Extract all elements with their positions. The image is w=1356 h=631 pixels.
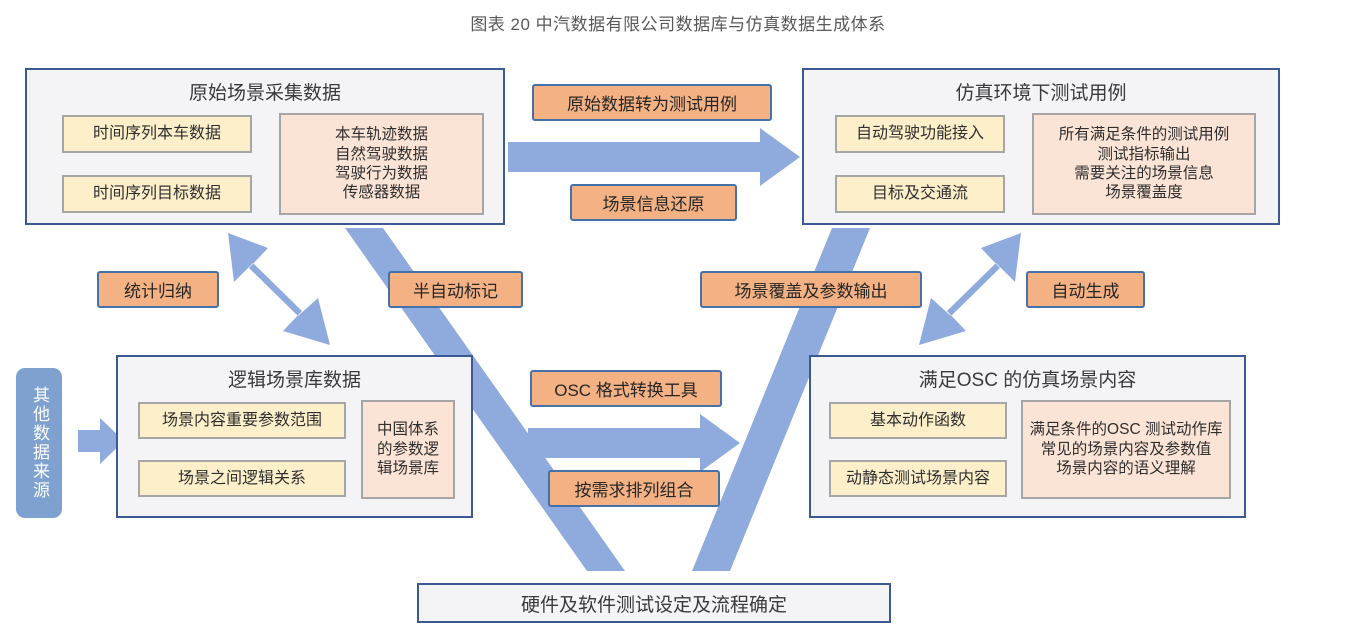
- arrow-raw-to-sim: [508, 128, 800, 186]
- group-sim-testcase[interactable]: 仿真环境下测试用例 自动驾驶功能接入 目标及交通流 所有满足条件的测试用例 测试…: [802, 68, 1280, 225]
- group-osc-scene-title: 满足OSC 的仿真场景内容: [811, 365, 1244, 392]
- label-coverage-param-output[interactable]: 场景覆盖及参数输出: [700, 271, 922, 308]
- label-scene-restore[interactable]: 场景信息还原: [570, 184, 737, 221]
- chip-logic-param-range[interactable]: 场景内容重要参数范围: [138, 402, 346, 439]
- group-raw-scene[interactable]: 原始场景采集数据 时间序列本车数据 时间序列目标数据 本车轨迹数据 自然驾驶数据…: [25, 68, 505, 225]
- arrow-sim-osc-double: [919, 233, 1021, 345]
- group-osc-scene[interactable]: 满足OSC 的仿真场景内容 基本动作函数 动静态测试场景内容 满足条件的OSC …: [809, 355, 1246, 518]
- chip-osc-dynamic-static-scene[interactable]: 动静态测试场景内容: [829, 460, 1007, 497]
- chip-sim-target-traffic-flow[interactable]: 目标及交通流: [835, 175, 1005, 213]
- label-statistics[interactable]: 统计归纳: [97, 271, 219, 308]
- chip-raw-target-timeseries[interactable]: 时间序列目标数据: [62, 175, 252, 213]
- label-osc-convert-tool[interactable]: OSC 格式转换工具: [530, 370, 722, 407]
- label-auto-generate[interactable]: 自动生成: [1026, 271, 1145, 308]
- label-permute-on-demand[interactable]: 按需求排列组合: [548, 470, 720, 507]
- chip-logic-china-param-lib[interactable]: 中国体系 的参数逻 辑场景库: [361, 400, 455, 499]
- label-semi-auto-mark[interactable]: 半自动标记: [388, 271, 523, 308]
- chip-raw-detail-list[interactable]: 本车轨迹数据 自然驾驶数据 驾驶行为数据 传感器数据: [279, 113, 484, 215]
- chip-sim-output-list[interactable]: 所有满足条件的测试用例 测试指标输出 需要关注的场景信息 场景覆盖度: [1032, 113, 1256, 215]
- bottom-process-label: 硬件及软件测试设定及流程确定: [521, 590, 787, 617]
- chip-osc-basic-action-fn[interactable]: 基本动作函数: [829, 402, 1007, 439]
- group-logic-library[interactable]: 逻辑场景库数据 场景内容重要参数范围 场景之间逻辑关系 中国体系 的参数逻 辑场…: [116, 355, 473, 518]
- chip-raw-ego-timeseries[interactable]: 时间序列本车数据: [62, 115, 252, 153]
- chip-logic-scene-relation[interactable]: 场景之间逻辑关系: [138, 460, 346, 497]
- group-logic-library-title: 逻辑场景库数据: [118, 365, 471, 392]
- group-raw-scene-title: 原始场景采集数据: [27, 78, 503, 105]
- diagram-canvas: 图表 20 中汽数据有限公司数据库与仿真数据生成体系 其他数据来源 原始场景采集…: [0, 0, 1356, 631]
- other-data-source-label: 其他数据来源: [29, 386, 49, 500]
- group-sim-testcase-title: 仿真环境下测试用例: [804, 78, 1278, 105]
- chip-osc-action-library[interactable]: 满足条件的OSC 测试动作库 常见的场景内容及参数值 场景内容的语义理解: [1021, 400, 1231, 499]
- label-raw-to-testcase[interactable]: 原始数据转为测试用例: [532, 84, 772, 121]
- arrow-raw-logic-double: [228, 233, 330, 345]
- other-data-source-box[interactable]: 其他数据来源: [16, 368, 62, 518]
- arrow-logic-to-osc: [528, 414, 740, 472]
- chip-sim-ad-function-access[interactable]: 自动驾驶功能接入: [835, 115, 1005, 153]
- bottom-process-box[interactable]: 硬件及软件测试设定及流程确定: [417, 583, 891, 623]
